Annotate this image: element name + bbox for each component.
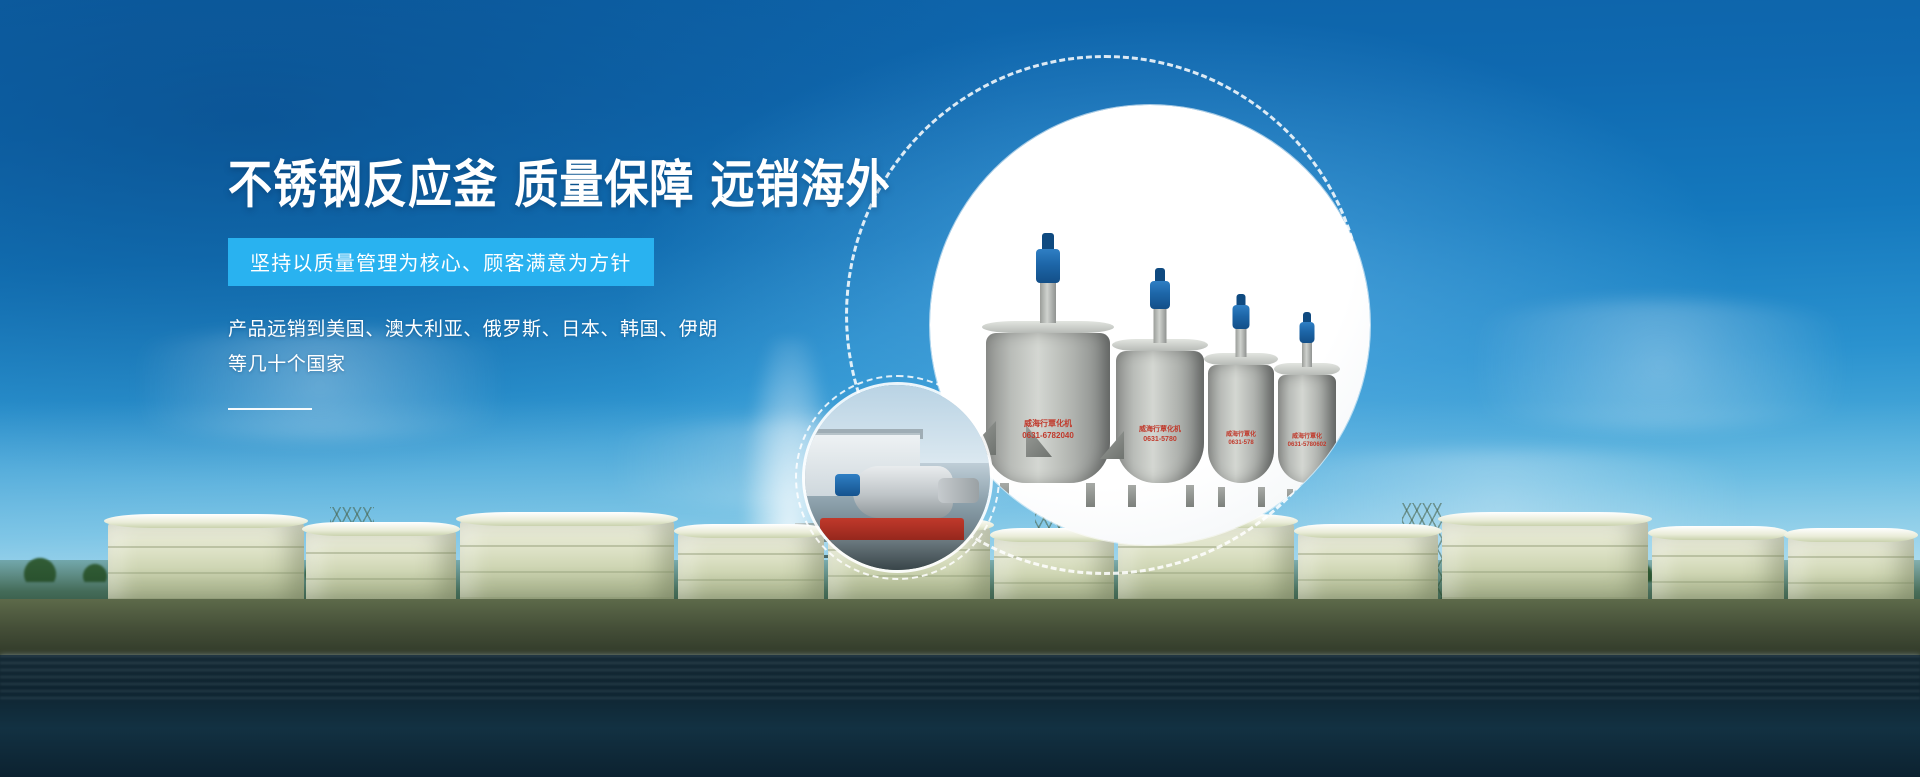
reactor-label: 威海行覃化: [1226, 432, 1256, 440]
ground-strip: [0, 599, 1920, 659]
oil-storage-tank: [108, 521, 304, 605]
hero-banner: 威海行覃化机 0631-6782040 威海行覃化机 0631-5780 威海行…: [0, 0, 1920, 777]
reactor-label: 威海行覃化: [1292, 434, 1322, 442]
reactor-vessel: 威海行覃化 0631-578: [1208, 323, 1274, 483]
reactor-phone: 0631-6782040: [1022, 431, 1074, 441]
body-line-1: 产品远销到美国、澳大利亚、俄罗斯、日本、韩国、伊朗: [228, 312, 868, 347]
water-reflection: [0, 655, 1920, 699]
oil-storage-tank: [1442, 519, 1648, 605]
banner-body: 产品远销到美国、澳大利亚、俄罗斯、日本、韩国、伊朗 等几十个国家: [228, 312, 868, 382]
body-line-2: 等几十个国家: [228, 347, 868, 382]
oil-storage-tank: [306, 529, 456, 605]
subtitle-highlight-bar: 坚持以质量管理为核心、顾客满意为方针: [228, 238, 654, 286]
banner-headline: 不锈钢反应釜 质量保障 远销海外: [228, 160, 868, 212]
banner-copy: 不锈钢反应釜 质量保障 远销海外 坚持以质量管理为核心、顾客满意为方针 产品远销…: [228, 160, 868, 410]
reactor-label: 威海行覃化机: [1139, 426, 1181, 435]
reactor-phone: 0631-5780: [1143, 436, 1176, 445]
divider-rule: [228, 408, 312, 410]
oil-storage-tank: [1788, 535, 1914, 605]
reactor-vessel: 威海行覃化机 0631-6782040: [986, 283, 1110, 483]
banner-subtitle: 坚持以质量管理为核心、顾客满意为方针: [250, 251, 632, 275]
reactor-vessel: 威海行覃化机 0631-5780: [1116, 303, 1204, 483]
oil-storage-tank: [1652, 533, 1784, 605]
inset-motor: [835, 474, 861, 496]
product-photo-circle: 威海行覃化机 0631-6782040 威海行覃化机 0631-5780 威海行…: [930, 105, 1370, 545]
factory-photo-circle: [805, 385, 990, 570]
reactor-vessel: 威海行覃化 0631-5780602: [1278, 335, 1336, 483]
reactor-label: 威海行覃化机: [1024, 419, 1072, 429]
oil-storage-tank: [460, 519, 674, 605]
oil-storage-tank: [678, 531, 824, 605]
oil-storage-tank: [1298, 531, 1438, 605]
reactor-phone: 0631-578: [1228, 440, 1253, 448]
reactor-phone: 0631-5780602: [1288, 442, 1327, 450]
inset-vessel-nozzle: [938, 478, 979, 504]
inset-ground: [805, 540, 990, 570]
